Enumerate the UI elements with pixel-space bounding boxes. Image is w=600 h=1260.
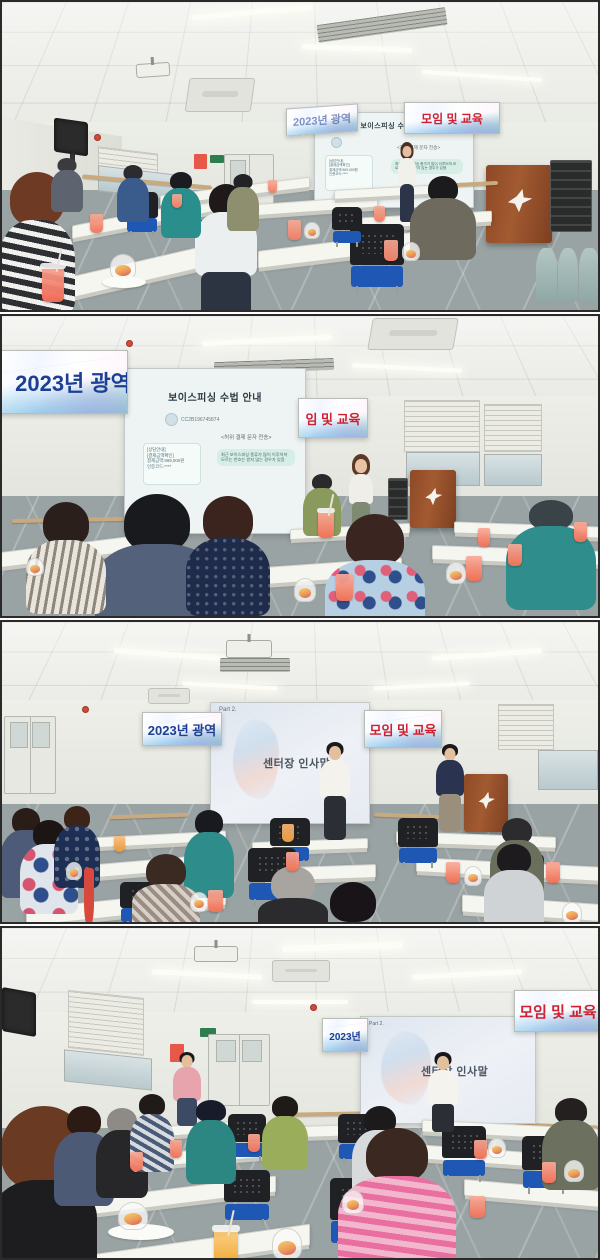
banner-left-4-text: 2023년 — [329, 1028, 360, 1043]
drink-cup — [288, 220, 301, 240]
staff-legs — [439, 794, 461, 832]
audience-hair — [346, 514, 404, 566]
photo-3: Part 2. 센터장 인사말 2023년 광역 모임 및 교육 — [0, 620, 600, 924]
audience-hair — [146, 854, 186, 888]
audience-torso — [51, 170, 83, 212]
drink-cup — [172, 194, 182, 208]
audience-hair — [272, 1096, 298, 1118]
dessert-cup — [342, 1190, 364, 1214]
audience-torso — [26, 540, 106, 614]
projector — [226, 640, 272, 658]
bench-seat — [579, 248, 598, 302]
photo-1: 보이스피싱 수법 안내 [상담안내] [결제금액확인] 결제금액:969,000… — [0, 0, 600, 312]
cup-lid — [40, 263, 66, 269]
audience-legs — [201, 272, 251, 310]
dessert-cup — [304, 222, 320, 239]
window-blind — [68, 990, 144, 1056]
wall-poster — [194, 154, 207, 169]
drink-cup — [286, 852, 299, 871]
chair-legs — [336, 242, 359, 247]
ceiling-air-conditioner — [272, 960, 330, 982]
audience-member — [188, 496, 268, 612]
speaker-head — [437, 1056, 449, 1070]
audience-torso — [338, 1176, 456, 1258]
banner-right-3: 모임 및 교육 — [364, 710, 442, 748]
window — [538, 750, 598, 790]
door-window — [216, 1040, 236, 1062]
speaker-with-microphone — [426, 1052, 460, 1130]
audience-member — [134, 854, 198, 922]
drink-cup — [574, 522, 587, 542]
lobby-bench — [536, 248, 598, 302]
cup-lid — [317, 508, 336, 513]
banner-right-2-text: 임 및 교육 — [305, 409, 360, 428]
av-rack — [550, 160, 592, 232]
drink-cup — [466, 556, 482, 581]
slide-title: 보이스피싱 수법 안내 — [125, 389, 305, 404]
audience-hair — [139, 1094, 165, 1116]
dessert-cup — [294, 578, 316, 602]
bench-seat — [558, 248, 579, 302]
chair-legs — [233, 1156, 262, 1162]
dessert-cup — [464, 866, 482, 886]
window-blind — [484, 404, 542, 452]
banner-left-3: 2023년 광역 — [142, 712, 222, 746]
dove-emblem-icon — [504, 187, 533, 214]
audience-member — [50, 158, 84, 210]
drink-cup — [546, 862, 560, 883]
drink-cup — [170, 1140, 182, 1158]
speaker-head — [329, 746, 341, 760]
drink-cup — [248, 1134, 260, 1152]
chair-seat — [351, 266, 403, 287]
dessert-cup — [488, 1138, 506, 1158]
wall-speaker — [54, 118, 88, 157]
window-blind — [404, 400, 480, 452]
exit-sign — [210, 155, 224, 163]
banner-left-4: 2023년 — [322, 1018, 368, 1052]
dessert-cup — [446, 562, 466, 584]
dessert-cup — [272, 1228, 302, 1258]
audience-torso — [227, 187, 259, 231]
audience-torso — [262, 1116, 308, 1170]
audience-hair — [196, 1100, 226, 1122]
slide-avatar-icon — [331, 137, 342, 148]
speaker-torso — [320, 760, 350, 798]
chair-legs — [403, 862, 433, 868]
audience-torso — [186, 1120, 236, 1184]
chair-legs — [130, 231, 154, 236]
dessert-cup — [190, 892, 208, 912]
ceiling-air-conditioner — [367, 318, 459, 350]
photo-3-scene: Part 2. 센터장 인사말 2023년 광역 모임 및 교육 — [2, 622, 598, 922]
staff-torso — [436, 760, 464, 796]
audience-torso — [484, 870, 544, 922]
speaker-with-microphone — [318, 742, 352, 838]
banner-right-1: 모임 및 교육 — [404, 102, 500, 134]
dessert-cup — [402, 242, 420, 261]
wall-speaker — [2, 987, 36, 1037]
photo-1-scene: 보이스피싱 수법 안내 [상담안내] [결제금액확인] 결제금액:969,000… — [2, 2, 598, 310]
fruit-dessert — [118, 1202, 148, 1230]
dessert-cup — [26, 558, 44, 576]
door-window — [32, 722, 50, 748]
ceiling-air-conditioner — [148, 688, 190, 704]
drink-cup — [268, 180, 277, 193]
photo-4-scene: Part 2. 센터장 인사말 2023년 모임 및 교육 — [2, 928, 598, 1258]
presenter-head — [355, 459, 367, 473]
projector — [136, 62, 171, 78]
audience-hair — [330, 882, 376, 922]
presenter-torso — [349, 474, 373, 504]
drink-cup — [282, 824, 294, 842]
staff-at-podium — [434, 744, 466, 830]
drink-cup — [508, 544, 522, 566]
chair-back — [398, 818, 438, 847]
banner-right-4-text: 모임 및 교육 — [519, 1001, 596, 1022]
drink-cup — [90, 214, 103, 233]
audience-member — [264, 1096, 306, 1170]
cup-lid — [212, 1225, 240, 1232]
ceiling-duct — [220, 658, 290, 672]
audience-member — [486, 844, 542, 922]
chair-seat — [333, 231, 362, 243]
door-window — [10, 722, 28, 748]
audience-hair — [366, 1128, 428, 1182]
red-umbrella — [84, 868, 94, 922]
drink-cup — [446, 862, 460, 883]
window-blind — [498, 704, 554, 750]
wooden-podium — [486, 165, 552, 243]
chair-back — [332, 207, 362, 230]
drink-cup — [478, 528, 490, 547]
banner-right-4: 모임 및 교육 — [514, 990, 598, 1032]
drink-cup — [336, 574, 353, 601]
sprinkler-icon — [310, 1004, 317, 1011]
banner-left-3-text: 2023년 광역 — [148, 720, 216, 739]
slide-phone-card: [상담안내] [결제금액확인] 결제금액:969,000원 인증코드:**** — [143, 443, 201, 485]
bench-seat — [536, 248, 557, 302]
audience-torso — [117, 178, 149, 222]
audience-torso — [186, 538, 270, 616]
chair-legs — [447, 1175, 480, 1182]
speaker-legs — [324, 796, 346, 840]
slide-part-label: Part 2. — [369, 1021, 384, 1027]
audience-member — [226, 174, 260, 228]
ceiling-air-conditioner — [185, 78, 256, 112]
audience-torso — [258, 898, 328, 922]
slide-phone-card: [상담안내] [결제금액확인] 결제금액:969,000원 인증코드:**** — [325, 155, 373, 191]
drink-cup — [384, 240, 398, 261]
dove-emblem-icon — [423, 486, 443, 506]
dessert-cup — [66, 862, 82, 880]
photo-collage: 보이스피싱 수법 안내 [상담안내] [결제금액확인] 결제금액:969,000… — [0, 0, 600, 1260]
banner-left-1: 2023년 광역 — [286, 103, 358, 136]
drink-cup — [114, 836, 125, 852]
drink-cup — [470, 1196, 485, 1218]
chair[interactable] — [332, 207, 362, 247]
drink-cup — [130, 1152, 143, 1171]
chair-legs — [356, 286, 397, 294]
banner-right-1-text: 모임 및 교육 — [421, 110, 483, 127]
dessert-cup — [562, 902, 582, 922]
photo-2-scene: 보이스피싱 수법 안내 CC2B196745874 [상담안내] [결제금액확인… — [2, 316, 598, 616]
sprinkler-icon — [94, 134, 101, 141]
speaker-torso — [428, 1070, 458, 1106]
chair-seat — [399, 848, 437, 863]
audience-member — [260, 866, 326, 922]
drink-cup — [42, 268, 64, 302]
audience-hair — [271, 866, 315, 902]
slide-chat-bubble: 최근 보이스피싱 종류가 많이 이루어져 모르는 번호는 받지 않는 경우가 있… — [217, 449, 295, 466]
door-window — [242, 1040, 262, 1062]
dessert-cup — [564, 1160, 584, 1182]
slide-phone-number: CC2B196745874 — [181, 417, 219, 423]
photo-2: 보이스피싱 수법 안내 CC2B196745874 [상담안내] [결제금액확인… — [0, 314, 600, 618]
drink-cup — [474, 1140, 487, 1159]
slide-subtitle: <허위 결제 문자 전송> — [221, 433, 271, 441]
drink-cup — [374, 206, 385, 222]
audience-member — [188, 1100, 234, 1184]
window — [484, 454, 542, 486]
sprinkler-icon — [82, 706, 89, 713]
projector — [194, 946, 238, 962]
sprinkler-icon — [126, 340, 133, 347]
drink-cup — [542, 1162, 556, 1183]
drink-cup — [214, 1230, 238, 1258]
banner-left-2-text: 2023년 광역 — [15, 366, 128, 398]
chair[interactable] — [398, 818, 438, 868]
plate — [102, 276, 146, 288]
presenter-head — [403, 146, 412, 157]
banner-right-2: 임 및 교육 — [298, 398, 368, 438]
dove-emblem-icon — [476, 790, 495, 810]
audience-member — [28, 502, 104, 612]
audience-hair — [203, 496, 253, 544]
audience-member — [116, 165, 150, 221]
banner-left-2: 2023년 광역 — [2, 350, 128, 414]
audience-member — [320, 882, 386, 922]
banner-right-3-text: 모임 및 교육 — [369, 720, 436, 739]
slide-avatar-icon — [165, 413, 178, 426]
drink-cup — [318, 512, 334, 538]
staff-torso — [173, 1067, 201, 1101]
ceiling-light — [252, 1000, 348, 1004]
photo-4: Part 2. 센터장 인사말 2023년 모임 및 교육 — [0, 926, 600, 1260]
drink-cup — [208, 890, 223, 912]
